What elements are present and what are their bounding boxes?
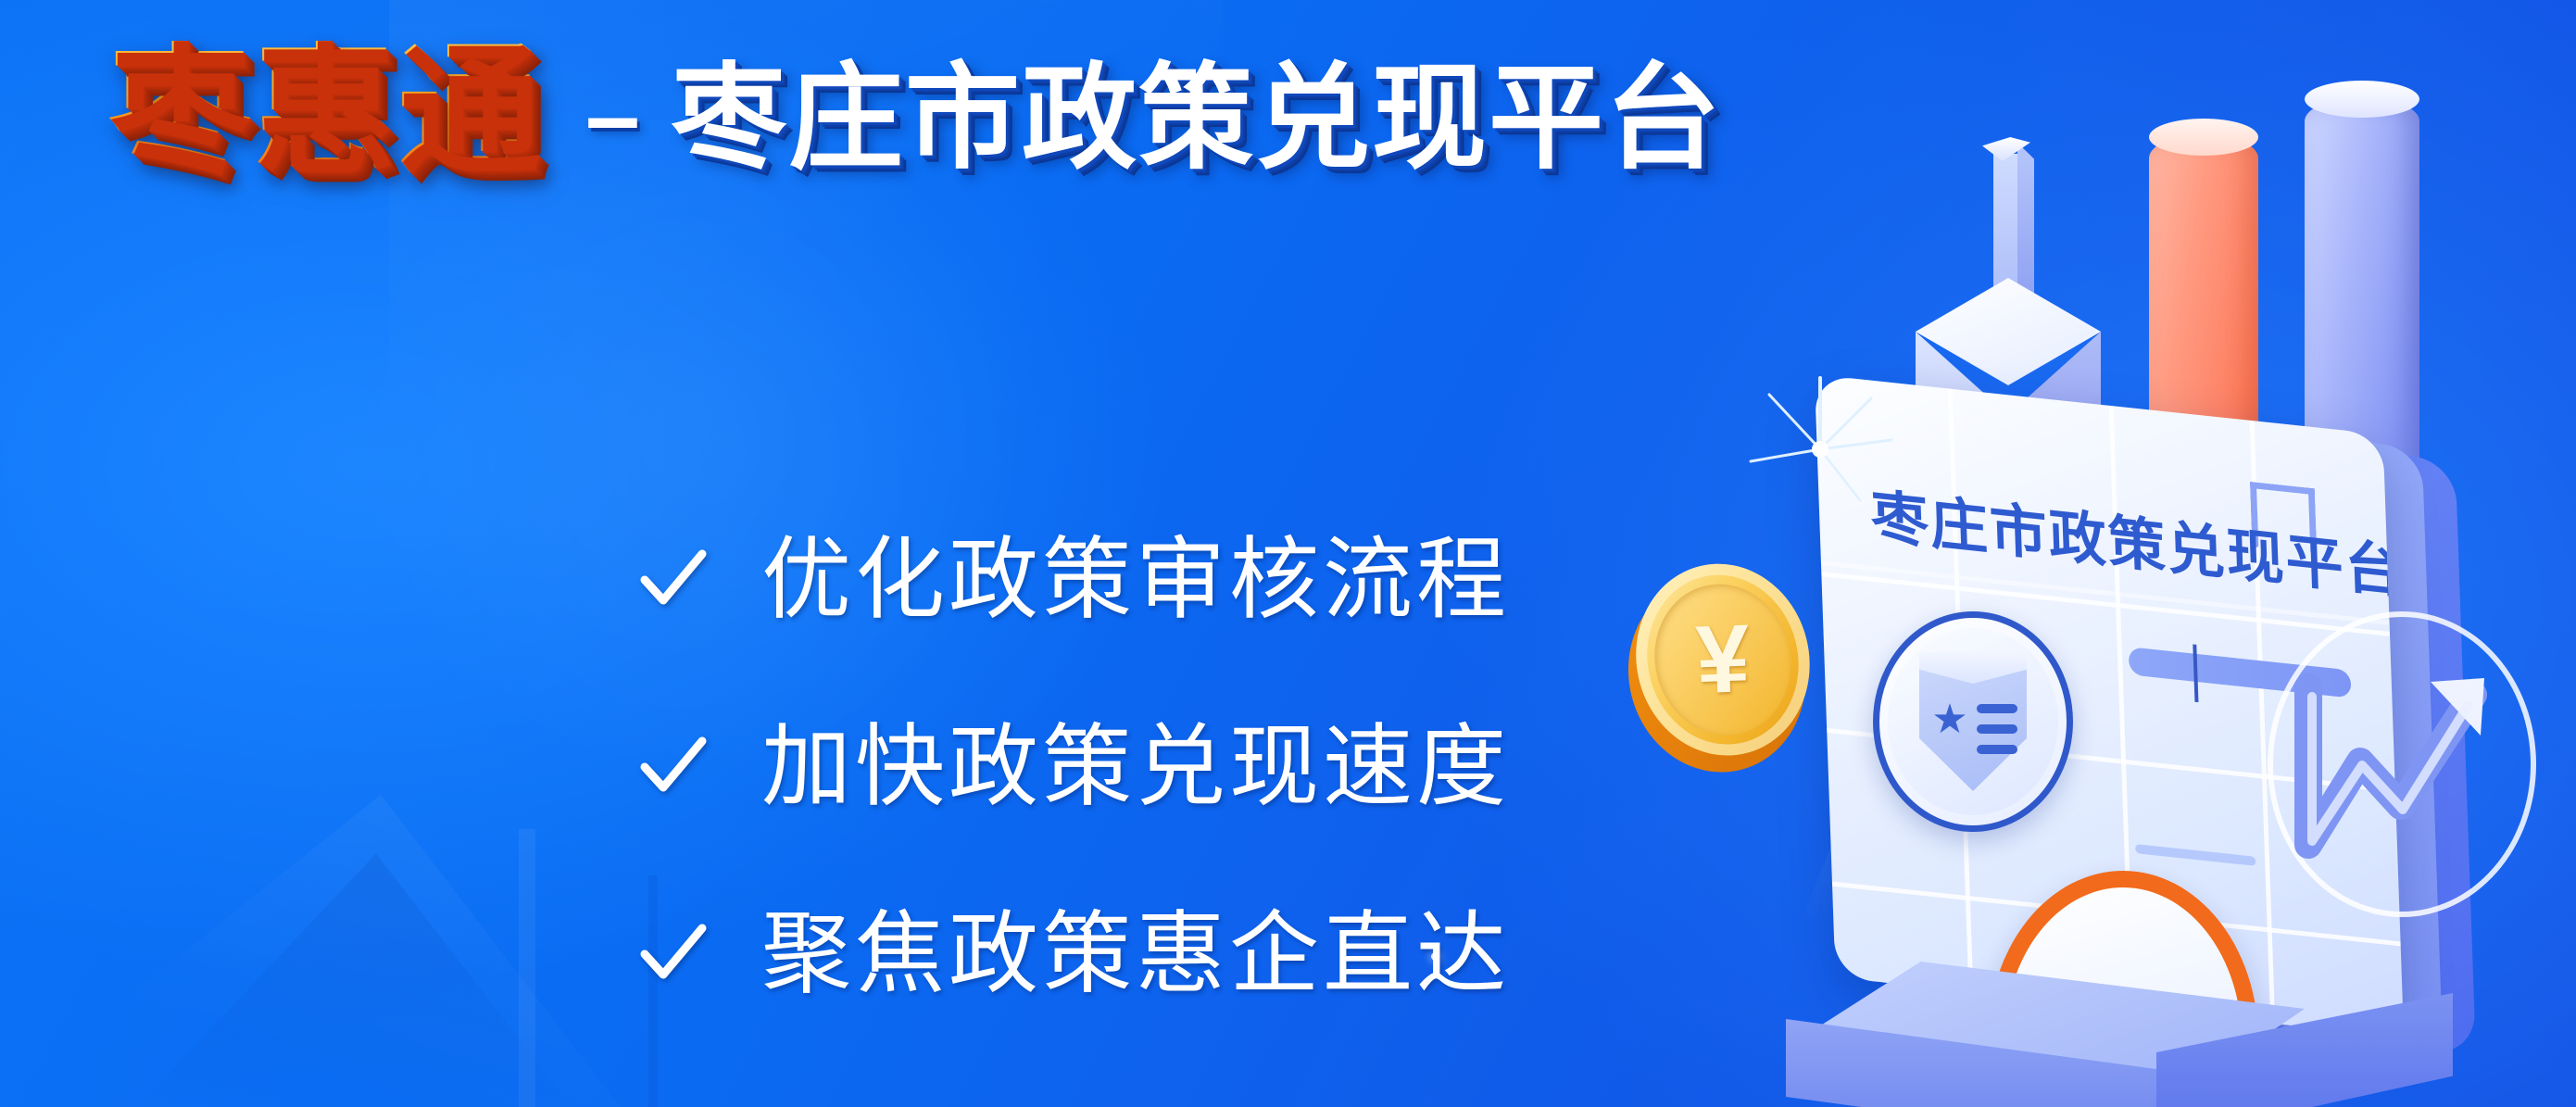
hero-illustration: 枣庄市政策兑现平台 ¥ <box>1630 56 2576 1107</box>
badge-line-2 <box>1977 724 2017 734</box>
check-icon <box>639 732 708 800</box>
trend-arrow-glyph <box>2292 650 2514 882</box>
check-icon <box>639 545 708 613</box>
shield-badge-icon: ★ <box>1873 611 2073 832</box>
feature-item-2: 加快政策兑现速度 <box>639 706 1510 826</box>
sparkle-icon <box>1732 361 1908 537</box>
coin-yen-symbol: ¥ <box>1652 582 1793 738</box>
gold-coin-icon: ¥ <box>1599 540 1843 803</box>
background-bar-a <box>519 829 535 1107</box>
feature-item-1: 优化政策审核流程 <box>639 519 1510 639</box>
feature-item-3: 聚焦政策惠企直达 <box>639 893 1510 1013</box>
feature-label: 优化政策审核流程 <box>761 535 1510 624</box>
brand-title: 枣惠通 <box>109 41 548 182</box>
bar-coral-cap <box>2149 119 2258 156</box>
badge-line-1 <box>1977 704 2017 713</box>
badge-line-3 <box>1977 745 2017 754</box>
check-icon <box>639 919 708 987</box>
background-triangle-left-inner <box>111 829 593 1107</box>
trending-up-arrow-icon <box>2268 611 2536 917</box>
feature-list: 优化政策审核流程 加快政策兑现速度 聚焦政策惠企直达 <box>639 519 1510 1080</box>
background-triangle-left <box>0 718 648 1107</box>
headline: 枣惠通 – 枣庄市政策兑现平台 <box>109 41 1722 182</box>
policy-platform-banner: 枣惠通 – 枣庄市政策兑现平台 优化政策审核流程 加快政策兑现速度 <box>0 0 2576 1107</box>
badge-star: ★ <box>1930 700 1969 739</box>
page-subtitle: 枣庄市政策兑现平台 <box>672 61 1722 176</box>
bar-periwinkle-cap <box>2305 81 2419 118</box>
feature-label: 加快政策兑现速度 <box>761 722 1510 811</box>
feature-label: 聚焦政策惠企直达 <box>761 909 1510 999</box>
title-separator: – <box>585 67 640 165</box>
